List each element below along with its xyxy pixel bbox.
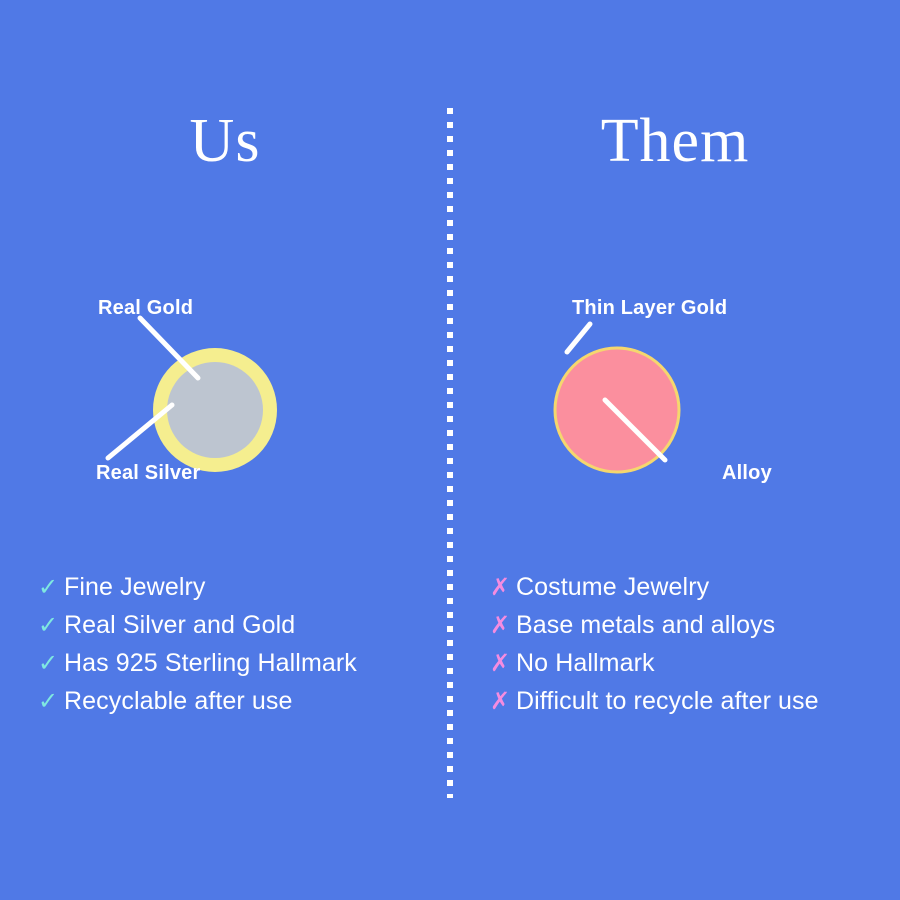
feature-text: Difficult to recycle after use — [516, 686, 819, 716]
comparison-column-them: Them Thin Layer Gold Alloy ✗ Costume Jew… — [450, 0, 900, 900]
diagram-us: Real Gold Real Silver — [0, 280, 450, 510]
column-heading-them: Them — [450, 104, 900, 178]
cross-icon: ✗ — [490, 573, 516, 603]
callout-label-alloy: Alloy — [722, 462, 772, 485]
callout-label-thin-layer-gold: Thin Layer Gold — [572, 297, 727, 320]
feature-text: Has 925 Sterling Hallmark — [64, 648, 357, 678]
list-item: ✗ Costume Jewelry — [490, 572, 900, 610]
feature-list-them: ✗ Costume Jewelry ✗ Base metals and allo… — [490, 572, 900, 724]
feature-text: Fine Jewelry — [64, 572, 206, 602]
check-icon: ✓ — [38, 611, 64, 641]
comparison-infographic: Us Real Gold Real Silver ✓ Fine Jewelry — [0, 0, 900, 900]
feature-text: Real Silver and Gold — [64, 610, 295, 640]
leader-line-thin-layer-gold — [567, 324, 590, 352]
list-item: ✗ Base metals and alloys — [490, 610, 900, 648]
list-item: ✓ Fine Jewelry — [38, 572, 488, 610]
cross-icon: ✗ — [490, 611, 516, 641]
feature-list-us: ✓ Fine Jewelry ✓ Real Silver and Gold ✓ … — [38, 572, 488, 724]
feature-text: No Hallmark — [516, 648, 655, 678]
list-item: ✗ No Hallmark — [490, 648, 900, 686]
column-heading-us: Us — [0, 104, 450, 178]
list-item: ✗ Difficult to recycle after use — [490, 686, 900, 724]
silver-core-circle — [167, 362, 263, 458]
feature-text: Base metals and alloys — [516, 610, 775, 640]
feature-text: Costume Jewelry — [516, 572, 709, 602]
cross-icon: ✗ — [490, 649, 516, 679]
cross-icon: ✗ — [490, 687, 516, 717]
comparison-column-us: Us Real Gold Real Silver ✓ Fine Jewelry — [0, 0, 450, 900]
check-icon: ✓ — [38, 573, 64, 603]
feature-text: Recyclable after use — [64, 686, 293, 716]
list-item: ✓ Real Silver and Gold — [38, 610, 488, 648]
callout-label-real-gold: Real Gold — [98, 297, 193, 320]
list-item: ✓ Has 925 Sterling Hallmark — [38, 648, 488, 686]
check-icon: ✓ — [38, 687, 64, 717]
diagram-them: Thin Layer Gold Alloy — [450, 280, 900, 510]
list-item: ✓ Recyclable after use — [38, 686, 488, 724]
callout-label-real-silver: Real Silver — [96, 462, 201, 485]
check-icon: ✓ — [38, 649, 64, 679]
